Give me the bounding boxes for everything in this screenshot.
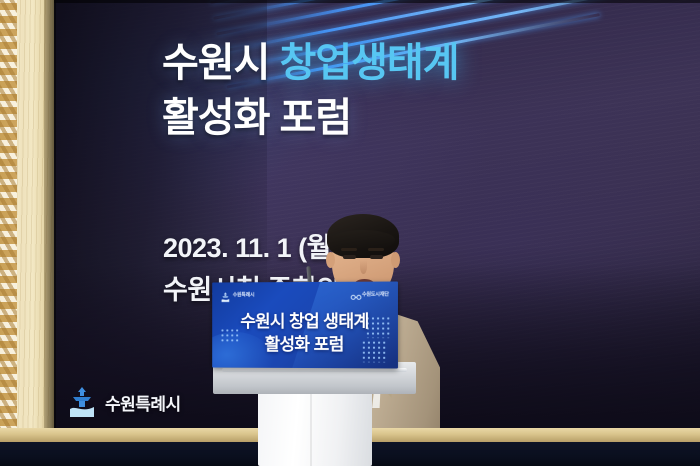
decorative-pattern-strip: [0, 0, 17, 452]
eye-right: [370, 255, 383, 259]
slide-title-plain: 수원시: [162, 41, 280, 85]
banner-logo-row: 수원특례시 수원도시재단: [212, 287, 398, 302]
podium-banner-sign: 수원특례시 수원도시재단 수원시 창업 생태계 활성화 포럼: [212, 281, 398, 368]
pavilion-tower-icon: [68, 386, 96, 418]
screen-bezel: [52, 0, 700, 3]
screen-city-logo: 수원특례시: [68, 386, 181, 418]
eyebrow-right: [368, 248, 384, 251]
pavilion-tower-icon-small: [221, 289, 230, 299]
ear-left: [326, 252, 335, 268]
hair: [327, 214, 399, 258]
slide-title: 수원시 창업생태계 활성화 포럼: [162, 36, 642, 146]
foundation-emblem-icon: [350, 289, 359, 299]
podium-rail: [222, 368, 407, 372]
banner-logo-left: 수원특례시: [221, 289, 254, 299]
slide-title-accent: 창업생태계: [280, 41, 459, 85]
banner-line-1: 수원시 창업 생태계: [212, 307, 398, 332]
banner-logo-right-label: 수원도시재단: [362, 290, 389, 297]
photo-scene: 수원시 창업생태계 활성화 포럼 2023. 11. 1 (월) 수원시청 중회…: [0, 0, 700, 466]
eye-left: [343, 255, 356, 259]
ear-right: [391, 252, 400, 268]
screen-city-logo-label: 수원특례시: [105, 390, 181, 415]
wall-screen-shadow: [44, 0, 56, 452]
banner-line-2: 활성화 포럼: [212, 330, 398, 355]
slide-title-line2: 활성화 포럼: [162, 91, 642, 146]
banner-logo-left-label: 수원특례시: [233, 291, 255, 298]
nose: [360, 260, 367, 274]
banner-logo-right: 수원도시재단: [350, 289, 389, 299]
eyebrow-left: [341, 248, 357, 251]
